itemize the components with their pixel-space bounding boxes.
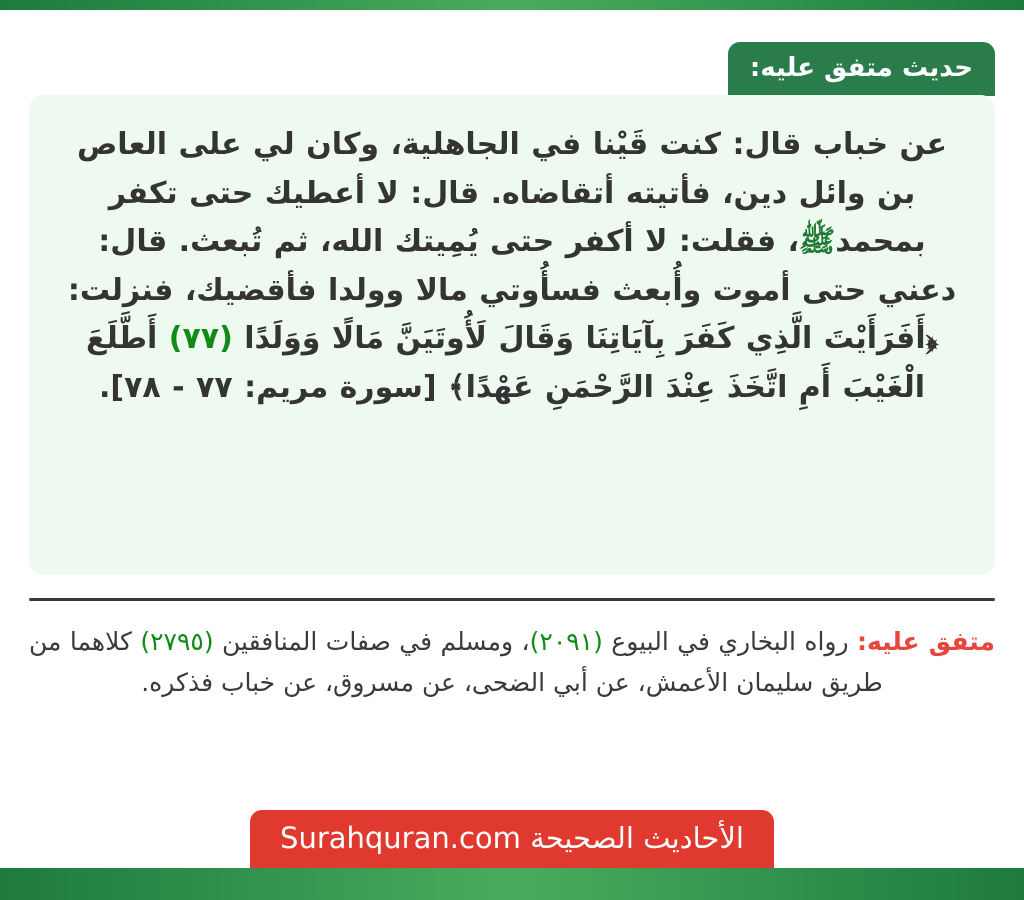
verse-number-77: (٧٧) xyxy=(169,321,233,356)
quran-source-citation: [سورة مريم: ٧٧ - ٧٨]. xyxy=(99,370,448,405)
pbuh-symbol-icon: ﷺ xyxy=(799,224,835,259)
hadith-grade-badge: حديث متفق عليه: xyxy=(728,42,995,96)
takhrij-bukhari-intro: رواه البخاري في البيوع xyxy=(603,627,857,656)
quran-verse-part-one: أَفَرَأَيْتَ الَّذِي كَفَرَ بِآيَاتِنَا … xyxy=(233,321,926,356)
hadith-card: حديث متفق عليه: عن خباب قال: كنت قَيْنا … xyxy=(0,0,1024,900)
section-divider xyxy=(29,598,995,601)
footer-row: الأحاديث الصحيحة Surahquran.com xyxy=(0,810,1024,868)
hadith-text-box: عن خباب قال: كنت قَيْنا في الجاهلية، وكا… xyxy=(29,95,995,575)
quran-close-bracket-icon: ﴾ xyxy=(448,370,466,405)
muslim-hadith-number: (٢٧٩٥) xyxy=(140,627,213,656)
badge-row: حديث متفق عليه: xyxy=(0,42,995,96)
quran-open-bracket-icon: ﴿ xyxy=(926,321,938,356)
bukhari-hadith-number: (٢٠٩١) xyxy=(530,627,603,656)
site-footer-banner[interactable]: الأحاديث الصحيحة Surahquran.com xyxy=(250,810,774,868)
top-decorative-bar xyxy=(0,0,1024,10)
footer-arabic-label: الأحاديث الصحيحة xyxy=(530,821,744,855)
hadith-matn: عن خباب قال: كنت قَيْنا في الجاهلية، وكا… xyxy=(63,121,961,413)
takhrij-muslim-intro: ، ومسلم في صفات المنافقين xyxy=(214,627,530,656)
takhrij-block: متفق عليه: رواه البخاري في البيوع (٢٠٩١)… xyxy=(29,622,995,703)
bottom-decorative-bar xyxy=(0,868,1024,900)
card-body: حديث متفق عليه: عن خباب قال: كنت قَيْنا … xyxy=(0,10,1024,868)
takhrij-label: متفق عليه: xyxy=(857,627,995,656)
footer-site-name[interactable]: Surahquran.com xyxy=(280,821,521,855)
